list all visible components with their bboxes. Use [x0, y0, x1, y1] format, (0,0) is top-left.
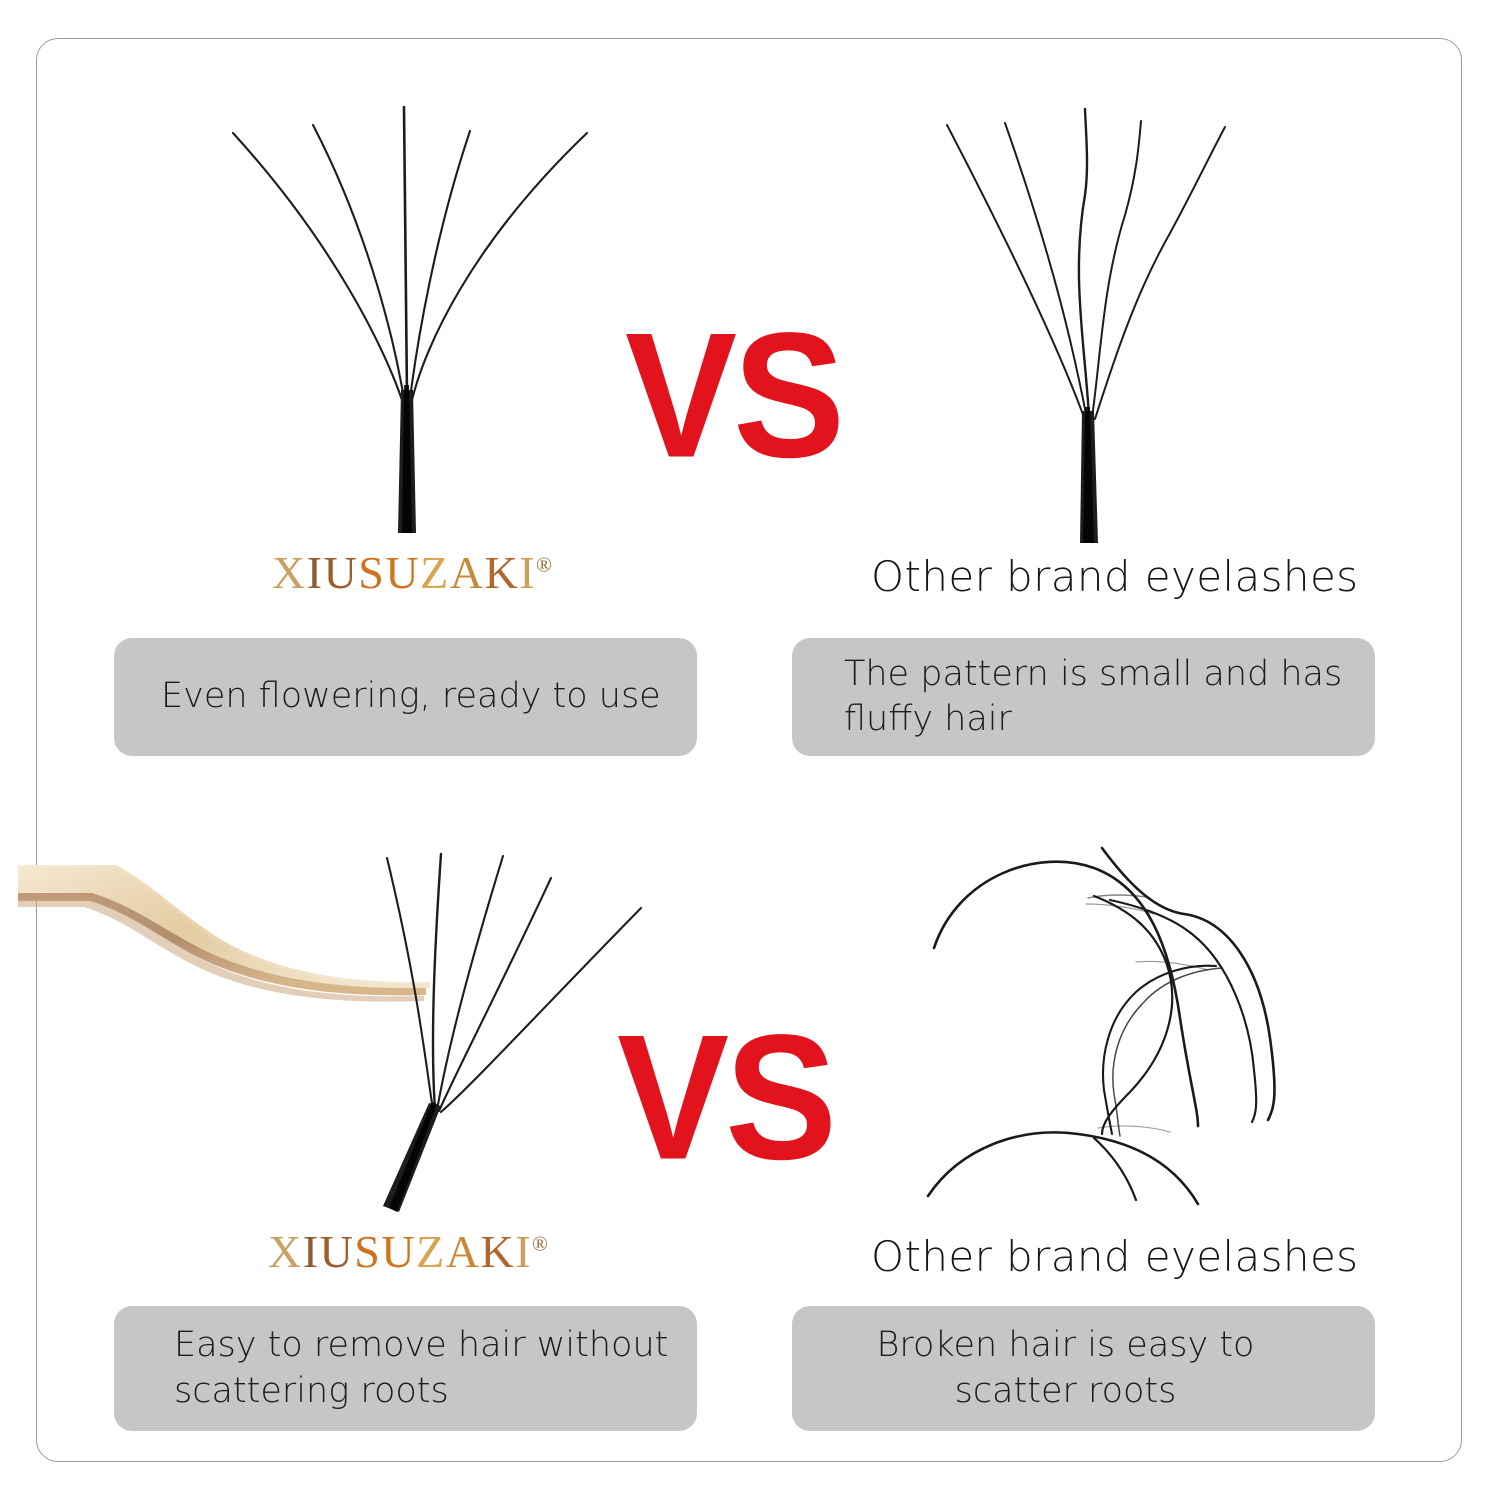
brand-logo-top-left: XIUSUZAKI® — [272, 550, 552, 596]
caption-text: Even flowering, ready to use — [161, 674, 697, 720]
logo-letter: S — [354, 1226, 381, 1277]
other-brand-label-bottom: Other brand eyelashes — [871, 1236, 1358, 1278]
caption-box-top-right: The pattern is small and has fluffy hair — [792, 638, 1375, 756]
logo-letter: K — [484, 547, 519, 598]
logo-letter: S — [358, 547, 385, 598]
logo-letter: Z — [420, 547, 450, 598]
other-brand-label-top: Other brand eyelashes — [871, 556, 1358, 598]
product-comparison-infographic: VS XIUSUZAKI® Other brand eyelashes Even… — [0, 0, 1500, 1500]
logo-letter: A — [446, 1226, 481, 1277]
logo-letter: Z — [416, 1226, 446, 1277]
logo-letter: K — [480, 1226, 515, 1277]
registered-trademark-mark: ® — [532, 1232, 548, 1256]
caption-text: The pattern is small and has fluffy hair — [844, 652, 1375, 743]
brand-logo-bottom-left: XIUSUZAKI® — [268, 1229, 548, 1275]
vs-mark-bottom: VS — [617, 1008, 833, 1186]
logo-letter: U — [385, 547, 420, 598]
caption-box-bottom-left: Easy to remove hair without scattering r… — [114, 1306, 697, 1431]
logo-letter: I — [519, 547, 536, 598]
logo-letter: U — [320, 1226, 355, 1277]
caption-box-bottom-right: Broken hair is easy to scatter roots — [792, 1306, 1375, 1431]
logo-letter: I — [303, 1226, 320, 1277]
logo-letter: X — [268, 1226, 303, 1277]
logo-letter: U — [381, 1226, 416, 1277]
tangled-broken-lashes-graphic — [898, 838, 1318, 1223]
logo-letter: U — [324, 547, 359, 598]
caption-text: Broken hair is easy to scatter roots — [792, 1323, 1339, 1414]
lash-fan-narrow-graphic — [925, 95, 1275, 550]
registered-trademark-mark: ® — [536, 553, 552, 577]
logo-letter: I — [515, 1226, 532, 1277]
logo-letter: A — [450, 547, 485, 598]
lash-fan-even-graphic — [195, 85, 625, 555]
vs-mark-top: VS — [625, 306, 841, 484]
caption-text: Easy to remove hair without scattering r… — [174, 1323, 697, 1414]
logo-letter: I — [307, 547, 324, 598]
logo-letter: X — [272, 547, 307, 598]
caption-box-top-left: Even flowering, ready to use — [114, 638, 697, 756]
